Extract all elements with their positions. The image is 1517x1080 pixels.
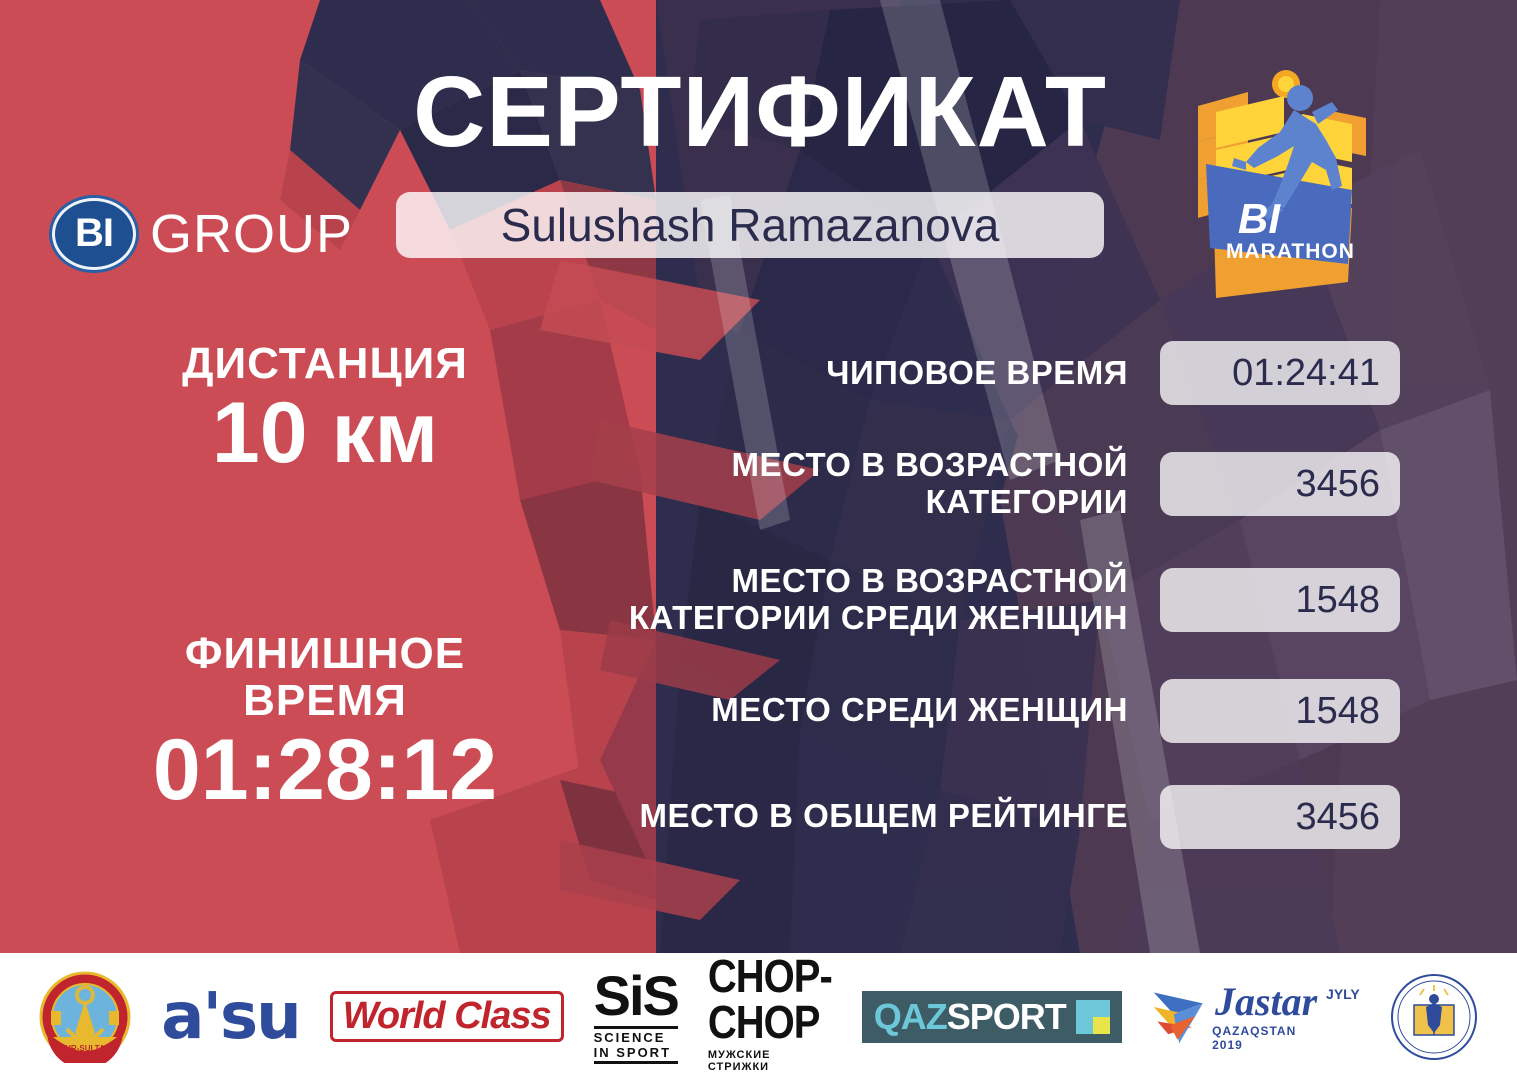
stat-label: ЧИПОВОЕ ВРЕМЯ — [520, 355, 1128, 392]
sis-tagline: SCIENCE IN SPORT — [594, 1026, 678, 1064]
sponsor-ministry-emblem — [1390, 969, 1478, 1065]
stat-label: МЕСТО В ВОЗРАСТНОЙ КАТЕГОРИИ — [520, 447, 1128, 521]
finish-time-value: 01:28:12 — [60, 725, 590, 815]
qazsport-sport: SPORT — [947, 996, 1066, 1037]
spacer — [60, 478, 590, 630]
stat-value-chip: 1548 — [1160, 568, 1400, 632]
sponsor-chop-chop: CHOP-CHOP МУЖСКИЕ СТРИЖКИ — [708, 969, 832, 1065]
stat-value: 3456 — [1295, 465, 1380, 503]
right-stats-block: ЧИПОВОЕ ВРЕМЯ 01:24:41 МЕСТО В ВОЗРАСТНО… — [520, 341, 1400, 849]
stat-row: ЧИПОВОЕ ВРЕМЯ 01:24:41 — [520, 341, 1400, 405]
page-title: СЕРТИФИКАТ — [390, 62, 1130, 162]
participant-name: Sulushash Ramazanova — [501, 202, 1000, 248]
stat-row: МЕСТО В ОБЩЕМ РЕЙТИНГЕ 3456 — [520, 785, 1400, 849]
marathon-bi-text: BI — [1238, 195, 1281, 242]
sponsor-nur-sultan-emblem: NUR-SULTAN — [39, 969, 131, 1065]
jastar-wordmark: Jastar — [1215, 982, 1317, 1022]
stat-value: 1548 — [1295, 581, 1380, 619]
stat-row: МЕСТО СРЕДИ ЖЕНЩИН 1548 — [520, 679, 1400, 743]
bi-badge-icon: BI — [52, 198, 136, 270]
jastar-jyly-label: JYLY — [1326, 986, 1360, 1002]
stat-value-chip: 3456 — [1160, 452, 1400, 516]
finish-time-label-line1: ФИНИШНОЕ — [60, 630, 590, 678]
left-stats-block: ДИСТАНЦИЯ 10 км ФИНИШНОЕ ВРЕМЯ 01:28:12 — [60, 340, 590, 815]
sponsor-qazsport: QAZSPORT — [862, 969, 1122, 1065]
stat-value: 1548 — [1295, 692, 1380, 730]
world-class-wordmark: World Class — [330, 991, 564, 1043]
finish-time-label-line2: ВРЕМЯ — [60, 677, 590, 725]
jastar-arrow-icon — [1152, 984, 1206, 1050]
bi-marathon-logo: BI MARATHON — [1176, 58, 1386, 308]
certificate-canvas: СЕРТИФИКАТ BI GROUP Sulushash Ramazanova — [0, 0, 1517, 1080]
chop-chop-wordmark: CHOP-CHOP — [708, 954, 832, 1046]
stat-label: МЕСТО В ВОЗРАСТНОЙ КАТЕГОРИИ СРЕДИ ЖЕНЩИ… — [520, 563, 1128, 637]
sis-wordmark: SiS — [594, 969, 678, 1022]
nur-sultan-emblem-text: NUR-SULTAN — [60, 1044, 111, 1053]
sponsor-asu: a'su — [161, 969, 299, 1065]
stat-value: 01:24:41 — [1232, 354, 1380, 392]
stat-value-chip: 3456 — [1160, 785, 1400, 849]
bi-badge-label: BI — [75, 213, 113, 253]
stat-value-chip: 1548 — [1160, 679, 1400, 743]
jastar-tagline: QAZAQSTAN 2019 — [1212, 1024, 1320, 1052]
bi-group-logo: BI GROUP — [52, 192, 353, 276]
stat-value-chip: 01:24:41 — [1160, 341, 1400, 405]
qazsport-square-icon — [1076, 1000, 1110, 1034]
sponsor-jastar-jyly: Jastar QAZAQSTAN 2019 JYLY — [1152, 969, 1360, 1065]
stat-value: 3456 — [1295, 798, 1380, 836]
sponsor-footer: NUR-SULTAN a'su World Class SiS SCIENCE … — [0, 953, 1517, 1080]
marathon-word-text: MARATHON — [1226, 240, 1355, 263]
stat-label: МЕСТО В ОБЩЕМ РЕЙТИНГЕ — [520, 798, 1128, 835]
sponsor-world-class: World Class — [330, 969, 564, 1065]
chop-chop-tagline: МУЖСКИЕ СТРИЖКИ — [708, 1049, 832, 1073]
asu-wordmark: a'su — [161, 985, 299, 1049]
sponsor-sis: SiS SCIENCE IN SPORT — [594, 969, 678, 1065]
qazsport-qaz: QAZ — [874, 996, 947, 1037]
stat-label: МЕСТО СРЕДИ ЖЕНЩИН — [520, 692, 1128, 729]
distance-value: 10 км — [60, 388, 590, 478]
stat-row: МЕСТО В ВОЗРАСТНОЙ КАТЕГОРИИ 3456 — [520, 447, 1400, 521]
participant-name-chip: Sulushash Ramazanova — [396, 192, 1104, 258]
bi-group-word: GROUP — [150, 207, 353, 261]
stat-row: МЕСТО В ВОЗРАСТНОЙ КАТЕГОРИИ СРЕДИ ЖЕНЩИ… — [520, 563, 1400, 637]
distance-label: ДИСТАНЦИЯ — [60, 340, 590, 388]
